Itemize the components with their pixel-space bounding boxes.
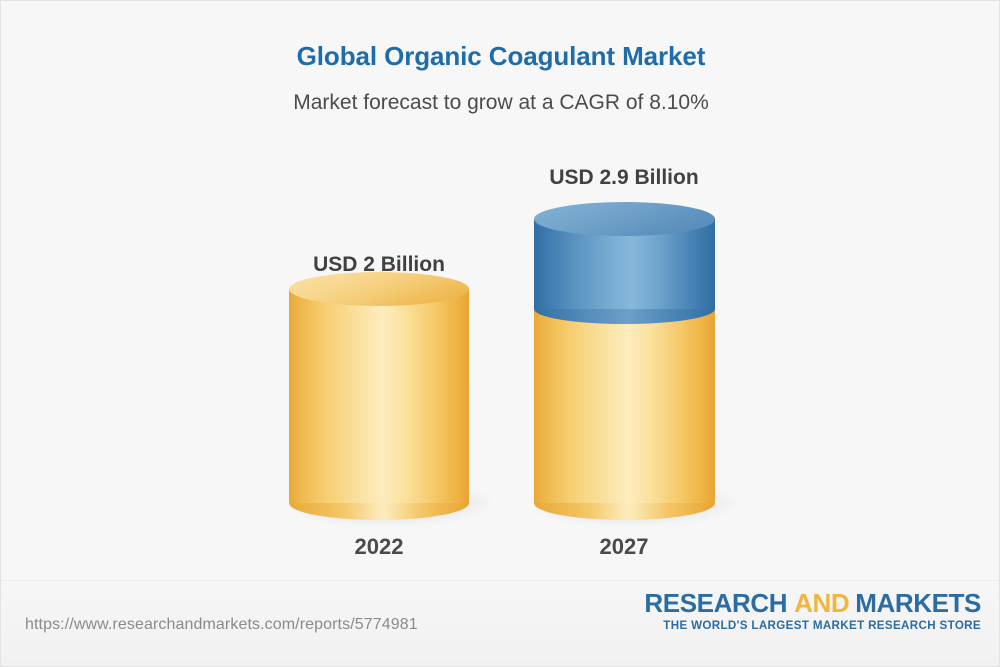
cylinder-top-cap — [289, 272, 469, 306]
bar-category-label-2022: 2022 — [249, 534, 509, 560]
footer: https://www.researchandmarkets.com/repor… — [1, 580, 1000, 666]
brand-logo: RESEARCHANDMARKETS THE WORLD'S LARGEST M… — [644, 589, 981, 632]
cylinder-2027 — [494, 131, 754, 531]
brand-word-and: AND — [794, 588, 849, 618]
chart-title: Global Organic Coagulant Market — [1, 41, 1000, 72]
cylinder-body-base — [289, 289, 469, 503]
chart-canvas: Global Organic Coagulant Market Market f… — [0, 0, 1000, 667]
source-url-link[interactable]: https://www.researchandmarkets.com/repor… — [25, 616, 418, 634]
brand-word-markets: MARKETS — [855, 588, 981, 618]
cylinder-2022 — [249, 131, 509, 531]
bar-group-2022: USD 2 Billion 2022 — [249, 131, 509, 571]
brand-word-research: RESEARCH — [644, 588, 787, 618]
cylinder-top-cap — [534, 202, 715, 236]
bar-category-label-2027: 2027 — [494, 534, 754, 560]
chart-subtitle: Market forecast to grow at a CAGR of 8.1… — [1, 91, 1000, 115]
cylinder-body-base — [534, 303, 715, 503]
plot-area: USD 2 Billion 2022 USD 2.9 Billion — [1, 131, 1000, 571]
brand-tagline: THE WORLD'S LARGEST MARKET RESEARCH STOR… — [644, 619, 981, 632]
brand-wordmark: RESEARCHANDMARKETS — [644, 589, 981, 617]
bar-group-2027: USD 2.9 Billion 2027 — [494, 131, 754, 571]
